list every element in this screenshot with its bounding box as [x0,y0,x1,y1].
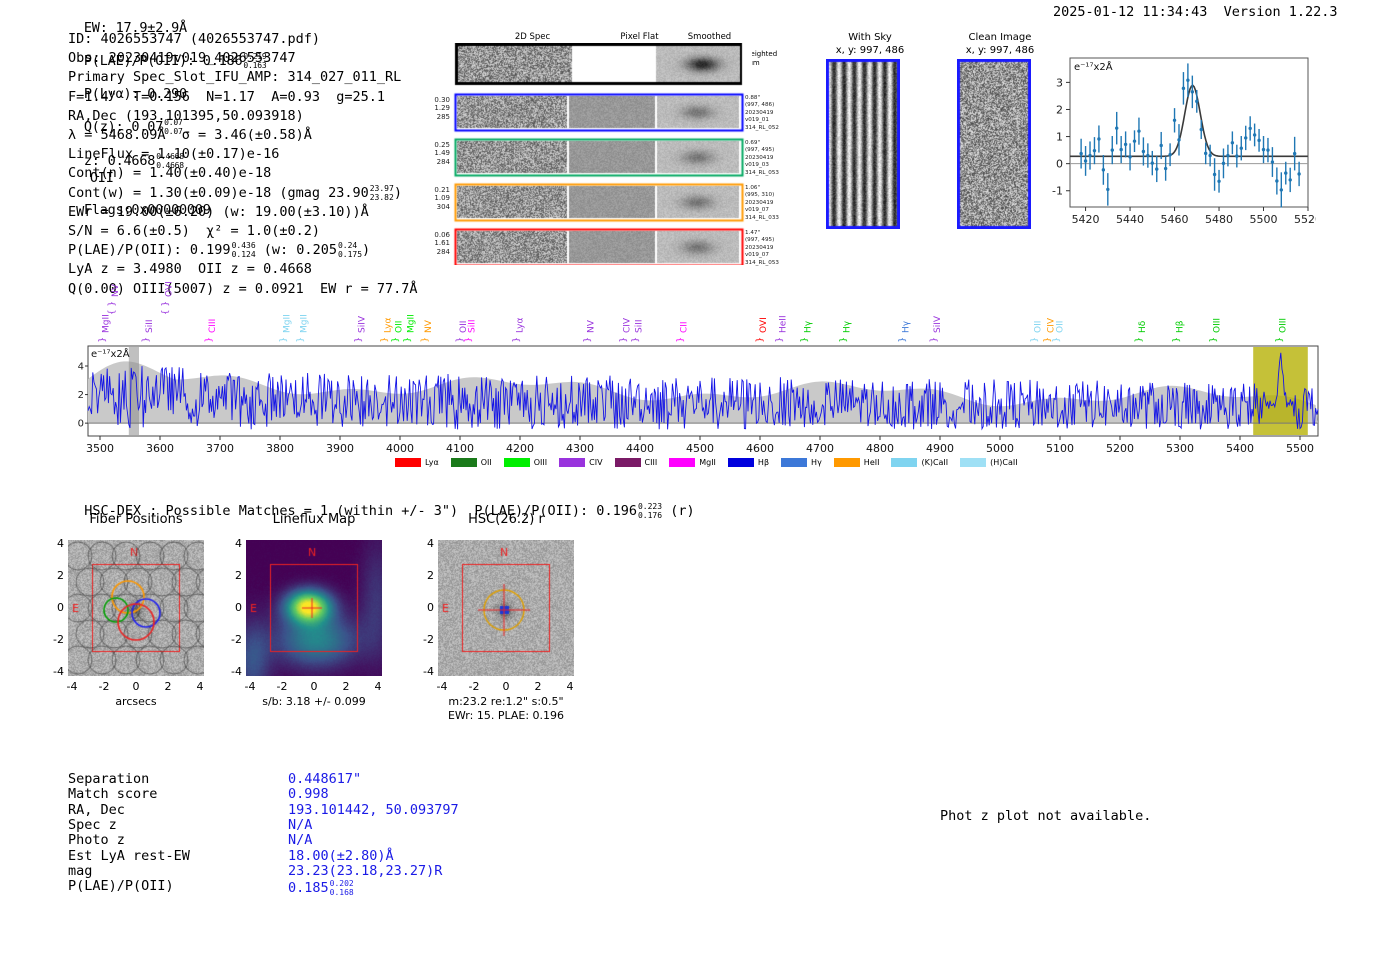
linefit-xtick-label: 5460 [1161,213,1189,226]
imaging-panel-2-ytick-1: 2 [416,569,434,582]
spec2d-row-2-metric-1: 1.09 [422,194,450,202]
imaging-panel-1-ytick-3: -2 [224,633,242,646]
spectrum-marker-label-CIV: CIV [623,317,633,333]
linefit-point [1240,147,1243,150]
info-z-line: LyA z = 3.4980 OII z = 0.4668 [68,260,418,279]
full-spectrum-plot: { }MgII{ }NV{ }SiII{ }OVI{ }CIII{ }MgII{… [66,278,1328,458]
spectrum-ytick-label: 0 [78,419,84,430]
legend-swatch-CIII [615,458,641,467]
linefit-point [1262,148,1265,151]
spectrum-marker-label-Hγ: Hγ [902,320,912,333]
imaging-panel-0-xtick-1: -2 [90,680,118,693]
spectrum-marker-label-SiIV: SiIV [933,315,943,333]
info-plae-fraction: 0.4360.124 [232,241,256,259]
spectrum-marker-label-MgII: MgII [299,314,309,333]
spectrum-marker-bracket: { } [755,278,765,279]
match-row-value-7: 0.1850.2020.168 [288,879,354,897]
linefit-xtick-label: 5420 [1072,213,1100,226]
spectrum-xtick-label: 5400 [1226,442,1254,455]
imaging-panel-1-ytick-2: 0 [224,601,242,614]
match-row-value-6: 23.23(23.18,23.27)R [288,864,442,879]
spec2d-row-2-metrics: 0.211.09304 [422,186,450,211]
spectrum-marker-label-NV: NV [111,283,121,297]
imaging-panel-title-0: Fiber Positions [33,512,239,527]
linefit-point [1226,154,1229,157]
clean-image [957,59,1031,229]
linefit-ytick-label: 2 [1056,103,1063,116]
linefit-xtick-label: 5480 [1205,213,1233,226]
spectrum-marker-label-SiIV: SiIV [358,315,368,333]
linefit-point [1115,126,1118,129]
spectrum-legend: LyαOIIOIIICIVCIIIMgIIHβHγHeII(K)CaII(H)C… [395,452,1030,471]
legend-label-OIII: OIII [534,458,547,467]
imaging-panel-0-xtick-4: 4 [186,680,214,693]
imaging-panel-xlabel-1: s/b: 3.18 +/- 0.099 [206,695,422,708]
spectrum-xtick-label: 3600 [146,442,174,455]
spec2d-row-1-metric-2: 284 [422,158,450,166]
imaging-panel-1-ytick-0: 4 [224,537,242,550]
spectrum-marker-bracket: { } [775,278,785,279]
spectrum-marker-label-MgII: MgII [283,314,293,333]
info-cont-n: Cont(n) = 1.40(±0.40)e-18 [68,164,418,183]
spec2d-row-3-metric-1: 1.61 [422,239,450,247]
linefit-point [1164,167,1167,170]
linefit-point [1133,139,1136,142]
spectrum-marker-label-SiII: SiII [467,319,477,333]
linefit-point [1231,141,1234,144]
match-row-label-3: Spec z [68,818,117,833]
linefit-ytick-label: 1 [1056,131,1063,144]
match-row-label-7: P(LAE)/P(OII) [68,879,174,894]
info-plae: P(LAE)/P(OII): 0.1990.4360.124 (w: 0.205… [68,241,418,260]
spectrum-marker-label-MgII: MgII [101,314,111,333]
spectrum-marker-label-NV: NV [424,319,434,333]
imaging-panel-xlabel-2: m:23.2 re:1.2" s:0.5" [398,695,614,708]
spec2d-row-0-metric-2: 285 [422,113,450,121]
panel-title-2dspec: 2D Spec [480,32,585,42]
imaging-panel-1-ytick-4: -4 [224,665,242,678]
legend-swatch-OIII [504,458,530,467]
cutout-title-clean: Clean Image [930,32,1070,43]
photz-message: Phot z plot not available. [940,808,1151,824]
imaging-panel-2-xtick-4: 4 [556,680,584,693]
match-row-value-3: N/A [288,818,312,833]
match-detail-table: Separation0.448617"Match score0.998RA, D… [68,772,628,902]
imaging-panel-2-ytick-3: -2 [416,633,434,646]
legend-label-CIII: CIII [645,458,658,467]
imaging-panel-title-1: Lineflux Map [211,512,417,527]
spec2d-image-stack [452,43,752,265]
linefit-flux-unit-label: e⁻¹⁷x2Å [1074,60,1113,73]
linefit-point [1155,167,1158,170]
spectrum-marker-label-SiII: SiII [145,319,155,333]
spec2d-row-1-metrics: 0.251.49284 [422,141,450,166]
imaging-panel-title-2: HSC(26.2) r [403,512,609,527]
match-row-value-4: N/A [288,833,312,848]
linefit-point [1200,128,1203,131]
spectrum-marker-bracket: { } [107,301,117,315]
match-row-label-1: Match score [68,787,157,802]
cutout-title-with-sky: With Sky [800,32,940,43]
spec2d-row-3-metric-0: 0.06 [422,231,450,239]
linefit-point [1275,179,1278,182]
spec2d-row-3-metric-2: 284 [422,248,450,256]
linefit-point [1253,133,1256,136]
legend-swatch-(H)CaII [960,458,986,467]
spec2d-row-1-metric-0: 0.25 [422,141,450,149]
info-ewr: EWr = 19.00(±6.20) (w: 19.00(±3.10))Å [68,203,418,222]
linefit-point [1244,136,1247,139]
imaging-panel-0-ytick-3: -2 [46,633,64,646]
legend-swatch-HeII [834,458,860,467]
linefit-point [1111,148,1114,151]
info-id: ID: 4026553747 (4026553747.pdf) [68,30,418,49]
imaging-panel-1-xtick-0: -4 [236,680,264,693]
hscdex-filter: (r) [670,503,694,519]
linefit-ytick-label: 0 [1056,158,1063,171]
imaging-panel-0-ytick-1: 2 [46,569,64,582]
imaging-panel-0-xtick-0: -4 [58,680,86,693]
spectrum-marker-label-Hβ: Hβ [1175,320,1185,333]
info-sn: S/N = 6.6(±0.5) χ² = 1.0(±0.2) [68,222,418,241]
spec2d-row-0-meta: 0.88" (997, 486) 20230419 v019_01 314_RL… [745,95,779,132]
match-row-label-6: mag [68,864,92,879]
imaging-panel-1-xtick-2: 0 [300,680,328,693]
hscdex-plae-fraction: 0.2230.176 [638,502,662,520]
linefit-point [1173,119,1176,122]
panel-title-smoothed: Smoothed [657,32,762,42]
spec2d-row-2-metric-0: 0.21 [422,186,450,194]
linefit-point [1084,159,1087,162]
with-sky-image [826,59,900,229]
spec2d-row-1-meta: 0.69" (997, 495) 20230419 v019_03 314_RL… [745,140,779,177]
imaging-panel-sublabel-2: EWr: 15. PLAE: 0.196 [398,709,614,722]
imaging-panel-0-xtick-2: 0 [122,680,150,693]
linefit-ytick-label: -1 [1052,185,1063,198]
legend-swatch-(K)CaII [891,458,917,467]
spec2d-row-0-metric-1: 1.29 [422,104,450,112]
legend-label-CIV: CIV [589,458,602,467]
cont-w-fraction: 23.9723.82 [370,184,394,202]
linefit-point [1248,127,1251,130]
legend-swatch-Hβ [728,458,754,467]
info-seeing: F=1.4" T=0.156 N=1.17 A=0.93 g=25.1 [68,88,418,107]
spectrum-marker-label-Hδ: Hδ [1138,320,1148,333]
info-lineflux: LineFlux = 1.10(±0.17)e-16 [68,145,418,164]
linefit-point [1222,162,1225,165]
imaging-panel-1-xtick-1: -2 [268,680,296,693]
datestamp: 2025-01-12 11:34:43 Version 1.22.3 [1053,4,1337,20]
linefit-point [1186,79,1189,82]
imaging-panel-2-xtick-3: 2 [524,680,552,693]
linefit-point [1191,90,1194,93]
legend-label-OII: OII [481,458,492,467]
linefit-point [1151,161,1154,164]
spectrum-marker-label-OII: OII [395,321,405,333]
legend-swatch-OII [451,458,477,467]
imaging-panel-2-xtick-0: -4 [428,680,456,693]
imaging-panel-image-1[interactable] [246,540,382,676]
spectrum-marker-bracket: { } [398,278,408,279]
info-lambda: λ = 5468.09Å σ = 3.46(±0.58)Å [68,126,418,145]
imaging-panel-0-xtick-3: 2 [154,680,182,693]
imaging-panel-2-ytick-2: 0 [416,601,434,614]
spectrum-marker-label-OVI: OVI [164,281,174,297]
spec2d-row-2-meta: 1.06" (995, 310) 20230419 v019_07 314_RL… [745,185,779,222]
emission-line-fit-plot: 542054405460548055005520-10123e⁻¹⁷x2Å [1036,48,1316,233]
info-plae-w-fraction: 0.240.175 [338,241,362,259]
spectrum-marker-label-OII: OII [1055,321,1065,333]
imaging-panel-1-xtick-3: 2 [332,680,360,693]
spectrum-marker-label-OII: OII [1034,321,1044,333]
info-spec-slot: Primary Spec_Slot_IFU_AMP: 314_027_011_R… [68,68,418,87]
spectrum-marker-label-NV: NV [587,319,597,333]
spectrum-marker-label-OIII: OIII [1213,318,1223,333]
legend-swatch-Lyα [395,458,421,467]
linefit-point [1119,148,1122,151]
match-row-value-2: 193.101442, 50.093797 [288,803,459,818]
legend-label-HeII: HeII [864,458,880,467]
spec2d-row-2-metric-2: 304 [422,203,450,211]
spectrum-marker-label-MgII: MgII [407,314,417,333]
spec2d-row-3-meta: 1.47" (997, 495) 20230419 v019_07 314_RL… [745,230,779,267]
legend-label-Lyα: Lyα [425,458,439,467]
linefit-point [1195,100,1198,103]
spectrum-marker-label-SiII: SiII [635,319,645,333]
linefit-point [1159,144,1162,147]
match-row-label-4: Photo z [68,833,125,848]
linefit-point [1280,188,1283,191]
spectrum-xtick-label: 3800 [266,442,294,455]
spectrum-marker-label-OVI: OVI [759,317,769,333]
linefit-point [1217,180,1220,183]
info-radec: RA,Dec (193.101395,50.093918) [68,107,418,126]
linefit-point [1093,149,1096,152]
spectrum-xtick-label: 5100 [1046,442,1074,455]
imaging-panel-0-ytick-4: -4 [46,665,64,678]
spectrum-xtick-label: 5300 [1166,442,1194,455]
legend-label-(H)CaII: (H)CaII [990,458,1017,467]
linefit-point [1235,154,1238,157]
spectrum-xtick-label: 3500 [86,442,114,455]
spectrum-marker-bracket: { } [161,301,171,315]
linefit-xtick-label: 5520 [1294,213,1316,226]
linefit-point [1289,178,1292,181]
spectrum-flux-unit-label: e⁻¹⁷x2Å [91,347,130,360]
spectrum-marker-label-Lyα: Lyα [515,317,525,333]
linefit-point [1177,138,1180,141]
linefit-xtick-label: 5440 [1116,213,1144,226]
linefit-xtick-label: 5500 [1250,213,1278,226]
spectrum-ytick-label: 2 [78,390,84,401]
linefit-point [1271,160,1274,163]
imaging-panel-0-ytick-2: 0 [46,601,64,614]
linefit-point [1097,137,1100,140]
match-plae-fraction: 0.2020.168 [330,879,354,897]
linefit-point [1293,152,1296,155]
spec2d-row-3-metrics: 0.061.61284 [422,231,450,256]
linefit-point [1137,129,1140,132]
spectrum-marker-label-OIII: OIII [1279,318,1289,333]
spectrum-line-markers: { }MgII{ }NV{ }SiII{ }OVI{ }CIII{ }MgII{… [98,278,1289,351]
linefit-point [1284,171,1287,174]
imaging-panel-0-ytick-0: 4 [46,537,64,550]
imaging-panel-2-xtick-1: -2 [460,680,488,693]
spectrum-marker-label-HeII: HeII [779,315,789,333]
legend-label-Hβ: Hβ [758,458,769,467]
imaging-panel-1-ytick-1: 2 [224,569,242,582]
imaging-panel-image-0[interactable] [68,540,204,676]
linefit-point [1124,143,1127,146]
linefit-point [1088,154,1091,157]
spec2d-row-0-metrics: 0.301.29285 [422,96,450,121]
linefit-point [1208,154,1211,157]
cutout-subtitle-with-sky: x, y: 997, 486 [800,45,940,56]
linefit-point [1142,150,1145,153]
linefit-point [1266,148,1269,151]
match-row-value-1: 0.998 [288,787,329,802]
linefit-point [1182,87,1185,90]
spec2d-row-1-metric-1: 1.49 [422,149,450,157]
info-cont-w: Cont(w) = 1.30(±0.09)e-18 (gmag 23.9023.… [68,184,418,203]
match-row-label-2: RA, Dec [68,803,125,818]
info-obs: Obs: 20230419v019_4026553747 [68,49,418,68]
spec2d-row-0-metric-0: 0.30 [422,96,450,104]
spectrum-marker-label-Hγ: Hγ [842,320,852,333]
imaging-panel-1-xtick-4: 4 [364,680,392,693]
imaging-panel-image-2[interactable] [438,540,574,676]
legend-swatch-MgII [669,458,695,467]
detection-info-block: ID: 4026553747 (4026553747.pdf) Obs: 202… [68,30,418,299]
legend-swatch-Hγ [781,458,807,467]
legend-label-MgII: MgII [699,458,716,467]
spectrum-ytick-label: 4 [78,362,84,373]
spectrum-marker-label-Hγ: Hγ [803,320,813,333]
linefit-point [1079,152,1082,155]
imaging-panel-2-ytick-4: -4 [416,665,434,678]
imaging-panel-2-ytick-0: 4 [416,537,434,550]
spectrum-marker-label-CII: CII [680,321,690,333]
linefit-point [1297,172,1300,175]
spectrum-xtick-label: 3900 [326,442,354,455]
spectrum-marker-label-Lyα: Lyα [383,317,393,333]
linefit-point [1102,168,1105,171]
match-row-value-0: 0.448617" [288,772,361,787]
legend-label-Hγ: Hγ [811,458,822,467]
spectrum-marker-label-CIII: CIII [208,319,218,333]
linefit-ytick-label: 3 [1056,76,1063,89]
linefit-point [1146,154,1149,157]
linefit-point [1106,188,1109,191]
linefit-point [1213,173,1216,176]
match-row-label-5: Est LyA rest-EW [68,849,190,864]
match-row-label-0: Separation [68,772,149,787]
linefit-point [1168,153,1171,156]
linefit-point [1128,155,1131,158]
spectrum-xtick-label: 5200 [1106,442,1134,455]
legend-label-(K)CaII: (K)CaII [921,458,948,467]
match-row-value-5: 18.00(±2.80)Å [288,849,394,864]
spectrum-xtick-label: 3700 [206,442,234,455]
linefit-point [1204,152,1207,155]
linefit-point [1257,139,1260,142]
legend-swatch-CIV [559,458,585,467]
spectrum-xtick-label: 5500 [1286,442,1314,455]
imaging-panel-2-xtick-2: 0 [492,680,520,693]
